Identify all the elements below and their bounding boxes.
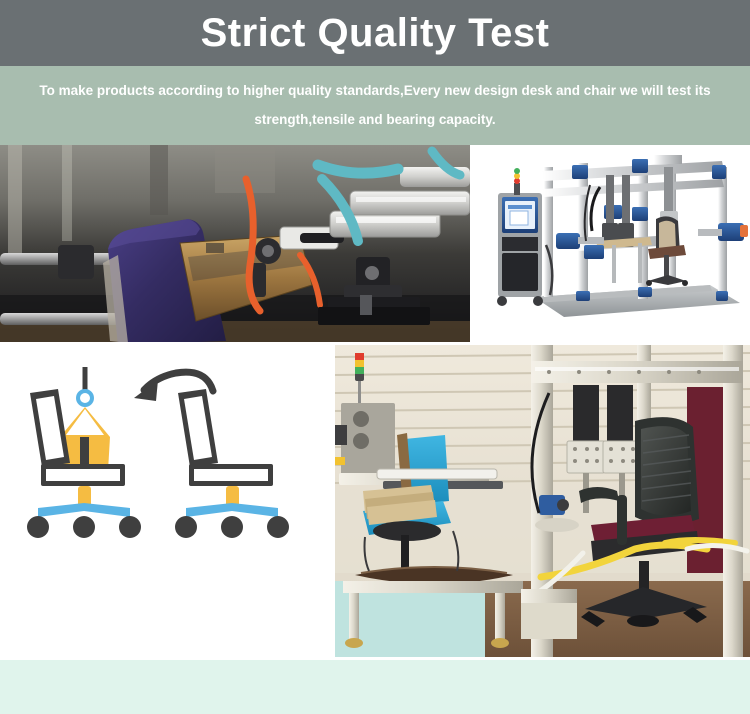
multi-axis-rig-illustration <box>472 145 750 342</box>
bottom-accent-band <box>0 660 750 714</box>
page-subtitle: To make products according to higher qua… <box>22 77 728 134</box>
quality-test-banner: Strict Quality Test To make products acc… <box>0 0 750 714</box>
photo-chair-durability-load-rig <box>335 345 750 657</box>
chair-load-test-diagram <box>0 345 334 657</box>
subtitle-bar: To make products according to higher qua… <box>0 66 750 145</box>
chair-back-tilt-test-illustration <box>0 145 470 342</box>
photo-chair-load-test-diagram <box>0 345 334 657</box>
title-bar: Strict Quality Test <box>0 0 750 66</box>
durability-load-rig-illustration <box>335 345 750 657</box>
page-title: Strict Quality Test <box>201 13 550 53</box>
photo-multi-axis-chair-test-rig <box>472 145 750 342</box>
image-gallery <box>0 145 750 660</box>
photo-chair-back-tilt-test-machine <box>0 145 470 342</box>
